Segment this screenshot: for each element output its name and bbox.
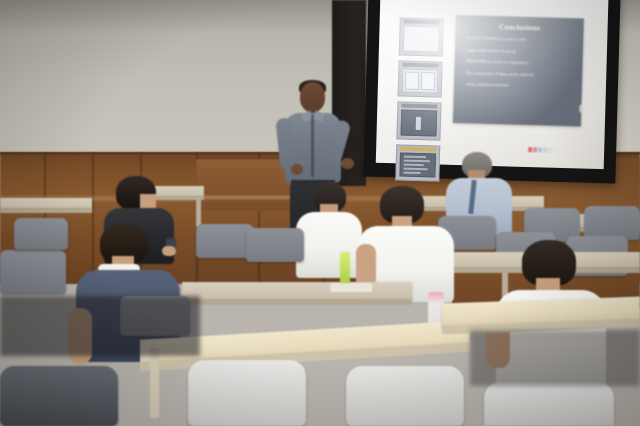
presenter-shirt-placket — [311, 115, 314, 177]
presenter-hand-right — [341, 158, 354, 169]
seminar-room-photo: Conclusions ✓ GCxGC-TOFMS has a lot to o… — [0, 0, 640, 426]
handout-papers — [330, 283, 372, 292]
chair-front-left — [0, 366, 118, 426]
floor-shadow-left — [0, 296, 200, 356]
desk-far-left-edge — [0, 208, 92, 213]
chair-front-far-right — [484, 382, 614, 426]
desk-leg — [196, 197, 201, 227]
desk-front-leg-left — [150, 348, 159, 418]
desk-mid-row-edge — [182, 299, 412, 305]
chair-left-a — [0, 250, 66, 294]
green-drink-bottle — [340, 252, 350, 286]
projection-surface: Conclusions ✓ GCxGC-TOFMS has a lot to o… — [376, 0, 609, 169]
attendee-center-left-shirt — [296, 212, 362, 278]
screen-glare — [376, 0, 609, 169]
chair-front-right — [346, 366, 464, 426]
floor-shadow-right — [470, 330, 640, 386]
chair-front-center — [188, 360, 306, 426]
presenter-hand-left — [291, 164, 303, 175]
chair-right-b — [584, 206, 640, 240]
chair-center-b — [246, 228, 304, 262]
desk-mid-row — [182, 282, 412, 300]
chair-left-b — [14, 218, 68, 250]
